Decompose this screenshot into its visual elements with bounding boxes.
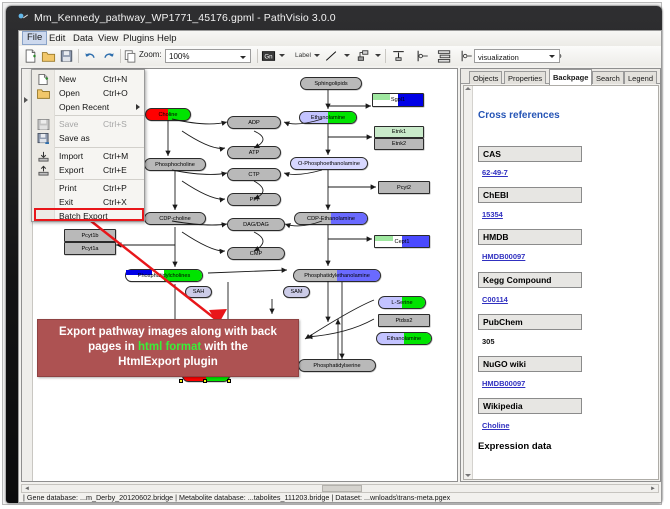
tab-search[interactable]: Search — [592, 71, 624, 84]
backpage-content: Cross references CAS 62-49-7 ChEBI 15354… — [474, 86, 656, 479]
xref-link-nugo[interactable]: HMDB00097 — [482, 379, 525, 388]
pathway-node-label: PPi — [250, 197, 259, 203]
pathway-node-cmp[interactable]: CMP — [227, 247, 285, 260]
file-menu-label-exit: Exit — [59, 197, 73, 207]
pathvisio-app-icon — [18, 12, 29, 23]
pathway-node-label: L-Serine — [391, 300, 412, 306]
file-menu-label-save: Save — [59, 119, 78, 129]
datanode-dropdown-arrow[interactable] — [279, 54, 285, 57]
menu-help[interactable]: Help — [153, 32, 181, 45]
pathway-node-label: Etnk2 — [392, 141, 406, 147]
save-disk-icon[interactable] — [59, 49, 74, 63]
tab-properties[interactable]: Properties — [504, 71, 546, 84]
status-text: | Gene database: ...m_Derby_20120602.bri… — [23, 493, 450, 502]
tab-backpage[interactable]: Backpage — [549, 69, 592, 85]
pathway-node-label: SAH — [193, 289, 205, 295]
batch-export-highlight-box — [34, 208, 144, 221]
pathway-node-phosphatidylserine[interactable]: Phosphatidylserine — [298, 359, 376, 372]
pathway-node-choline[interactable]: Choline — [145, 108, 191, 121]
horizontal-scrollbar[interactable]: ◄ ► — [21, 484, 659, 493]
pathway-node-lserine[interactable]: L-Serine — [378, 296, 426, 309]
pathway-node-label: SAM — [290, 289, 302, 295]
toolbar-separator — [120, 49, 121, 63]
datanode-icon[interactable]: Gn — [261, 49, 276, 63]
pathway-node-ophosphoethanolamine[interactable]: O-Phosphoethanolamine — [290, 157, 368, 170]
cross-references-heading: Cross references — [478, 110, 560, 121]
pathway-node-ptdss2[interactable]: Ptdss2 — [378, 314, 430, 327]
interaction-icon[interactable] — [356, 49, 371, 63]
pathway-node-label: ADP — [248, 120, 260, 126]
xref-header-chebi: ChEBI — [478, 187, 582, 203]
pathway-node-cept1[interactable]: Cept1 — [374, 235, 430, 248]
menu-edit[interactable]: Edit — [45, 32, 69, 45]
pathway-node-atp[interactable]: ATP — [227, 146, 281, 159]
xref-link-chebi[interactable]: 15354 — [482, 210, 503, 219]
callout-line-2: pages in html format with the — [38, 341, 298, 353]
application-window: Mm_Kennedy_pathway_WP1771_45176.gpml - P… — [6, 6, 662, 503]
file-menu-label-save-as: Save as — [59, 133, 90, 143]
pathway-node-dagdag[interactable]: DAG/DAG — [227, 218, 285, 231]
svg-text:Gn: Gn — [264, 54, 272, 61]
callout-line-1: Export pathway images along with back — [38, 326, 298, 338]
xref-header-nugo: NuGO wiki — [478, 356, 582, 372]
save-as-icon — [37, 133, 50, 144]
scrollbar-thumb[interactable] — [322, 485, 362, 492]
node-fill-accent — [373, 94, 390, 100]
side-panel: Objects Properties Backpage Search Legen… — [460, 68, 661, 482]
toolbar-separator — [257, 49, 258, 63]
xref-header-pubchem: PubChem — [478, 314, 582, 330]
file-menu-item-open[interactable]: Open Ctrl+O — [33, 86, 145, 100]
pathway-node-sah[interactable]: SAH — [185, 286, 212, 298]
scroll-right-arrow[interactable]: ► — [650, 486, 656, 492]
pathway-node-label: Cept1 — [395, 239, 410, 245]
pathway-node-phosphocholine[interactable]: Phosphocholine — [144, 158, 206, 171]
redo-icon[interactable] — [101, 49, 116, 63]
open-folder-icon[interactable] — [41, 49, 56, 63]
pathway-node-label: Choline — [159, 112, 178, 118]
file-menu-accel-export: Ctrl+E — [103, 165, 127, 175]
pathway-node-label: Pcyt2 — [397, 185, 411, 191]
selection-handle[interactable] — [203, 379, 207, 383]
file-menu-accel-new: Ctrl+N — [103, 74, 127, 84]
pathway-node-cdpcholine[interactable]: CDP-choline — [144, 212, 206, 225]
chevron-right-icon — [136, 104, 140, 110]
align-left-icon[interactable] — [415, 49, 430, 63]
pathway-node-label: Phosphatidylcholines — [138, 273, 191, 279]
undo-icon[interactable] — [83, 49, 98, 63]
tab-objects[interactable]: Objects — [469, 71, 502, 84]
distribute-icon[interactable] — [437, 49, 452, 63]
pathway-node-label: Phosphatidylserine — [313, 363, 360, 369]
pathway-node-adp[interactable]: ADP — [227, 116, 281, 129]
pathway-node-label: Sphingolipids — [314, 81, 347, 87]
pathway-node-ethanolamine2[interactable]: Ethanolamine — [376, 332, 432, 345]
pathway-node-sphingolipids[interactable]: Sphingolipids — [300, 77, 362, 90]
menu-file[interactable]: File — [22, 31, 47, 45]
open-folder-icon — [37, 88, 50, 99]
xref-header-cas: CAS — [478, 146, 582, 162]
pathway-node-label: DAG/DAG — [243, 222, 269, 228]
pathway-node-cdpethanolamine[interactable]: CDP-Ethanolamine — [294, 212, 368, 225]
file-menu-item-open-recent[interactable]: Open Recent — [33, 100, 145, 114]
menu-bar: File Edit Data View Plugins Help — [19, 31, 661, 47]
callout-line2-a: pages in — [88, 341, 138, 353]
xref-value-pubchem: 305 — [482, 337, 495, 346]
file-menu-item-print[interactable]: Print Ctrl+P — [33, 181, 145, 195]
pathway-node-label: Pcyt1a — [81, 246, 98, 252]
node-fill-accent — [375, 236, 393, 241]
zoom-label: Zoom: — [139, 50, 162, 59]
file-menu-separator — [55, 115, 144, 116]
xref-link-kegg[interactable]: C00114 — [482, 295, 508, 304]
file-menu-dropdown[interactable]: New Ctrl+N Open Ctrl+O Open Recent — [31, 69, 145, 222]
file-menu-item-export[interactable]: Export Ctrl+E — [33, 163, 145, 177]
import-icon — [37, 151, 50, 162]
file-menu-item-import[interactable]: Import Ctrl+M — [33, 149, 145, 163]
align-center-icon[interactable] — [459, 49, 474, 63]
file-menu-accel-exit: Ctrl+X — [103, 197, 127, 207]
export-icon — [37, 165, 50, 176]
pathway-node-sam[interactable]: SAM — [283, 286, 310, 298]
pathway-node-label: Ethanolamine — [387, 336, 421, 342]
pathway-node-label: CDP-Ethanolamine — [307, 216, 355, 222]
file-menu-label-open-recent: Open Recent — [59, 102, 109, 112]
side-panel-tabs: Objects Properties Backpage Search Legen… — [461, 69, 660, 84]
pathway-node-label: Etnk1 — [392, 129, 406, 135]
file-menu-label-export: Export — [59, 165, 84, 175]
pathway-node-label: CDP-choline — [159, 216, 190, 222]
scroll-up-arrow[interactable] — [465, 87, 471, 90]
status-bar: ◄ ► | Gene database: ...m_Derby_20120602… — [19, 484, 661, 502]
file-menu-label-print: Print — [59, 183, 76, 193]
pathway-node-label: Phosphatidylethanolamine — [304, 273, 370, 279]
file-menu-separator — [55, 179, 144, 180]
file-menu-accel-print: Ctrl+P — [103, 183, 127, 193]
zoom-combobox[interactable]: 100% — [165, 49, 251, 63]
annotation-callout: Export pathway images along with back pa… — [37, 319, 299, 377]
visualization-value: visualization — [478, 53, 519, 62]
pathway-node-sgpl1[interactable]: Sgpl1 — [372, 93, 424, 107]
callout-line-3: HtmlExport plugin — [38, 356, 298, 368]
backpage-scrollbar[interactable] — [464, 86, 473, 479]
copy-icon[interactable] — [123, 49, 138, 63]
pathway-node-etnk1[interactable]: Etnk1 — [374, 126, 424, 138]
scroll-down-arrow[interactable] — [465, 474, 471, 477]
pathway-node-ethanolamine1[interactable]: Ethanolamine — [299, 111, 357, 124]
line-icon[interactable] — [324, 49, 339, 63]
pathway-node-etnk2[interactable]: Etnk2 — [374, 138, 424, 150]
pathway-node-label: Pcyt1b — [81, 233, 98, 239]
visualization-combobox[interactable]: visualization — [474, 49, 560, 63]
pathway-node-label: Phosphocholine — [155, 162, 195, 168]
visualization-dropdown-arrow[interactable] — [549, 55, 555, 58]
expression-data-heading: Expression data — [478, 441, 551, 452]
pathway-node-label: CTP — [248, 172, 259, 178]
file-menu-accel-import: Ctrl+M — [103, 151, 128, 161]
pathway-node-label: Ethanolamine — [311, 115, 345, 121]
tab-legend[interactable]: Legend — [624, 71, 657, 84]
callout-html-format-highlight: html format — [138, 341, 201, 353]
xref-header-hmdb: HMDB — [478, 229, 582, 245]
file-menu-item-save[interactable]: Save Ctrl+S — [33, 117, 145, 131]
pathway-node-ppi[interactable]: PPi — [227, 193, 281, 206]
align-top-icon[interactable] — [391, 49, 406, 63]
file-menu-label-open: Open — [59, 88, 80, 98]
xref-link-hmdb[interactable]: HMDB00097 — [482, 252, 525, 261]
pathway-node-phosphatidylethanolamine[interactable]: Phosphatidylethanolamine — [293, 269, 381, 282]
pathway-node-label: Sgpl1 — [391, 97, 405, 103]
new-document-icon[interactable] — [23, 49, 38, 63]
title-bar: Mm_Kennedy_pathway_WP1771_45176.gpml - P… — [6, 6, 662, 28]
pathway-node-label: CMP — [250, 251, 262, 257]
pathway-node-pcyt1b[interactable]: Pcyt1b — [64, 229, 116, 242]
pathway-node-pcyt2[interactable]: Pcyt2 — [378, 181, 430, 194]
pathway-node-phosphatidylcholines[interactable]: Phosphatidylcholines — [125, 269, 203, 282]
xref-link-cas[interactable]: 62-49-7 — [482, 168, 508, 177]
window-title: Mm_Kennedy_pathway_WP1771_45176.gpml - P… — [34, 10, 336, 26]
zoom-value: 100% — [169, 52, 189, 61]
selection-handle[interactable] — [179, 379, 183, 383]
pathway-node-ctp[interactable]: CTP — [227, 168, 281, 181]
selection-handle[interactable] — [227, 379, 231, 383]
new-document-icon — [37, 74, 50, 85]
file-menu-item-exit[interactable]: Exit Ctrl+X — [33, 195, 145, 209]
label-dropdown-arrow[interactable] — [314, 54, 320, 57]
toolbar: Zoom: 100% Gn Label — [19, 46, 661, 67]
backpage-panel: Cross references CAS 62-49-7 ChEBI 15354… — [463, 85, 659, 480]
pathway-node-label: ATP — [249, 150, 259, 156]
file-menu-accel-open: Ctrl+O — [103, 88, 128, 98]
scroll-left-arrow[interactable]: ◄ — [24, 486, 30, 492]
toolbar-separator — [78, 49, 79, 63]
interaction-dropdown-arrow[interactable] — [375, 54, 381, 57]
xref-header-kegg: Kegg Compound — [478, 272, 582, 288]
line-dropdown-arrow[interactable] — [344, 54, 350, 57]
callout-line2-c: with the — [201, 341, 248, 353]
file-menu-separator — [55, 147, 144, 148]
file-menu-accel-save: Ctrl+S — [103, 119, 127, 129]
pathway-node-pcyt1a[interactable]: Pcyt1a — [64, 242, 116, 255]
app-body: File Edit Data View Plugins Help — [18, 30, 662, 503]
pathway-node-label: Ptdss2 — [395, 318, 412, 324]
file-menu-label-import: Import — [59, 151, 83, 161]
label-tool-text: Label — [295, 52, 311, 59]
menu-data[interactable]: Data — [69, 32, 97, 45]
pathway-node-label: O-Phosphoethanolamine — [298, 161, 360, 167]
screenshot-root: Mm_Kennedy_pathway_WP1771_45176.gpml - P… — [0, 0, 670, 509]
file-menu-item-save-as[interactable]: Save as — [33, 131, 145, 145]
xref-link-wikipedia[interactable]: Choline — [482, 421, 510, 430]
file-menu-item-new[interactable]: New Ctrl+N — [33, 72, 145, 86]
save-disk-icon — [37, 119, 50, 130]
xref-header-wikipedia: Wikipedia — [478, 398, 582, 414]
toolbar-separator — [385, 49, 386, 63]
file-menu-label-new: New — [59, 74, 76, 84]
zoom-dropdown-arrow[interactable] — [237, 51, 249, 62]
